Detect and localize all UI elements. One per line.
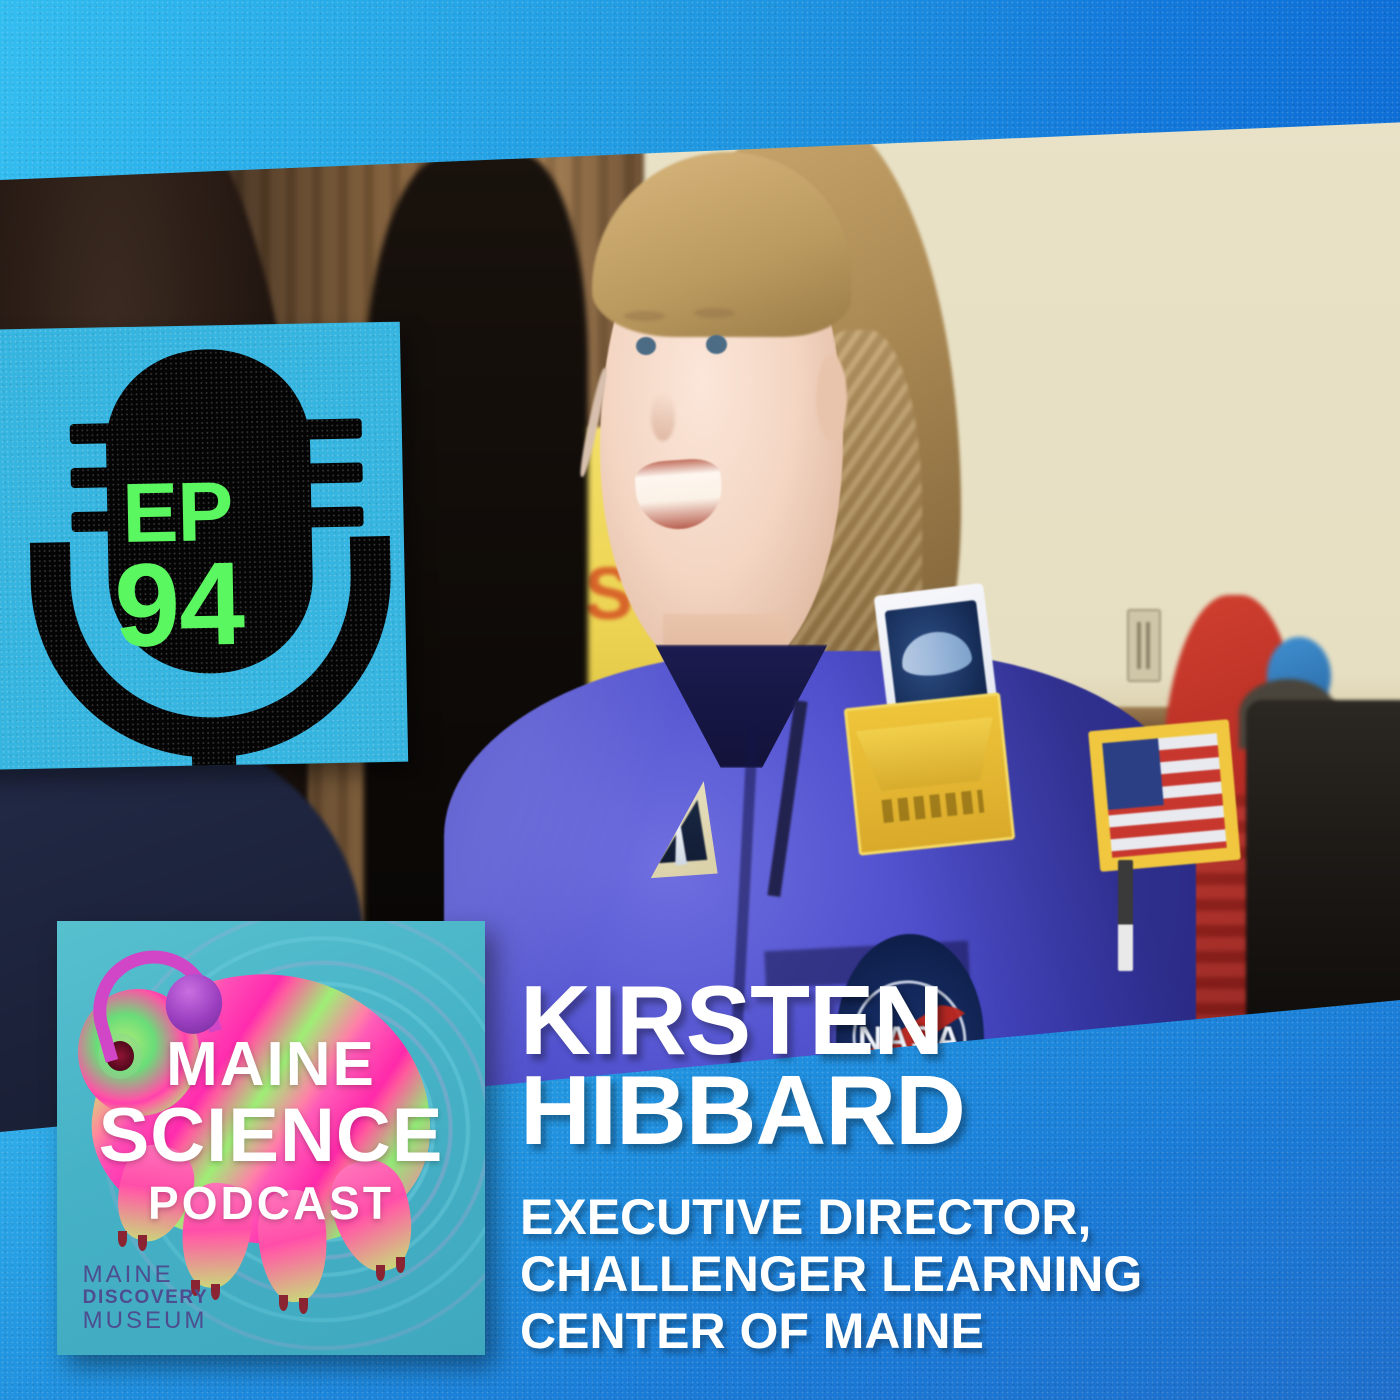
name-tag-patch <box>844 692 1015 855</box>
podcast-logo-card[interactable]: MAINE SCIENCE PODCAST MAINE DISCOVERY MU… <box>57 921 485 1355</box>
eye-right <box>706 335 726 353</box>
guest-role-line-2: CHALLENGER LEARNING <box>520 1246 1360 1303</box>
guest-role-line-3: CENTER OF MAINE <box>520 1303 1360 1360</box>
episode-number-text: EP 94 <box>0 470 406 664</box>
guest-info-block: KIRSTEN HIBBARD EXECUTIVE DIRECTOR, CHAL… <box>520 975 1360 1360</box>
wordmark-podcast: PODCAST <box>57 1180 485 1226</box>
museum-line-discovery: DISCOVERY <box>83 1288 209 1308</box>
guest-role: EXECUTIVE DIRECTOR, CHALLENGER LEARNING … <box>520 1189 1360 1360</box>
us-flag-patch <box>1088 719 1241 872</box>
guest-name: KIRSTEN HIBBARD <box>520 975 1360 1155</box>
museum-line-museum: MUSEUM <box>83 1308 209 1333</box>
eye-left <box>636 337 656 355</box>
museum-line-maine: MAINE <box>83 1262 209 1287</box>
eyebrow-left <box>624 311 665 321</box>
podcast-wordmark: MAINE SCIENCE PODCAST <box>57 1034 485 1226</box>
wordmark-maine: MAINE <box>57 1034 485 1096</box>
maine-discovery-museum-logo: MAINE DISCOVERY MUSEUM <box>83 1262 209 1333</box>
zipper-pull <box>1118 860 1134 971</box>
episode-number: 94 <box>0 547 406 664</box>
podcast-episode-cover: S <box>0 0 1400 1400</box>
guest-role-line-1: EXECUTIVE DIRECTOR, <box>520 1189 1360 1246</box>
episode-prefix: EP <box>0 470 404 556</box>
guest-first-name: KIRSTEN <box>520 975 1360 1065</box>
guest-last-name: HIBBARD <box>520 1065 1360 1155</box>
nose <box>651 392 675 441</box>
microphone-icon <box>0 322 408 771</box>
episode-number-badge[interactable]: EP 94 <box>0 322 408 771</box>
wordmark-science: SCIENCE <box>57 1098 485 1174</box>
